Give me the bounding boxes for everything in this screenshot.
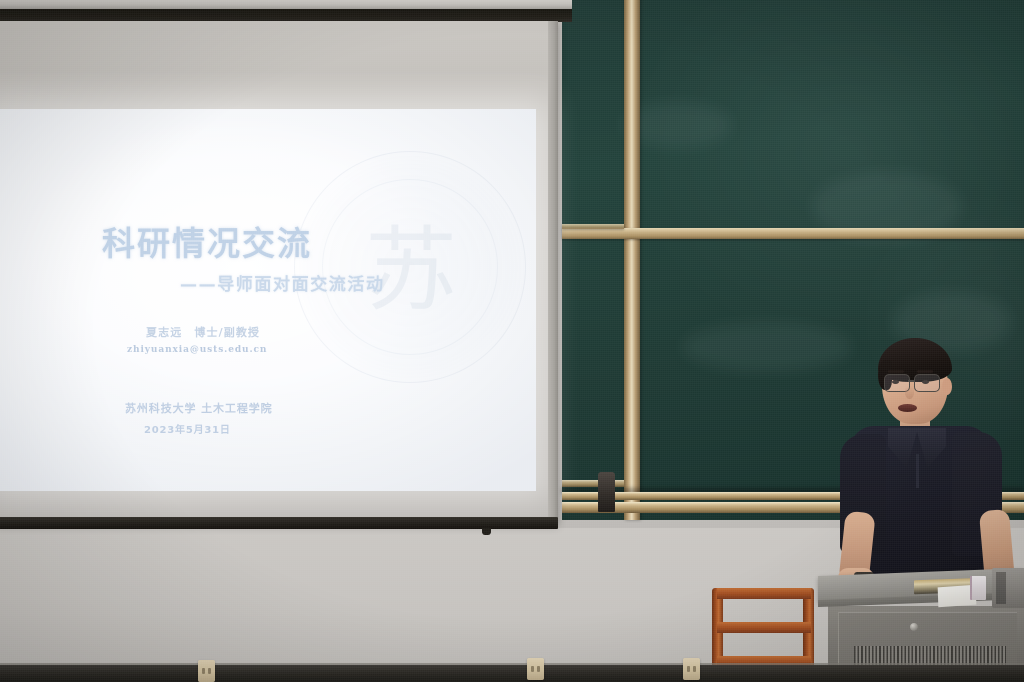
glasses-bridge [908,380,915,382]
screen-right-edge [548,21,558,524]
presenter-mouth [898,404,917,412]
pull-down-projection-screen[interactable]: 苏 科研情况交流 ——导师面对面交流活动 夏志远 博士/副教授 zhiyuanx… [0,0,572,546]
wall-outlet-center[interactable] [527,658,544,680]
glasses-lens-right [914,374,940,392]
lectern-lock[interactable] [910,623,918,631]
chalkboard-vertical-frame [624,0,640,520]
screen-fabric: 苏 科研情况交流 ——导师面对面交流活动 夏志远 博士/副教授 zhiyuanx… [0,21,556,524]
presenter [832,330,1024,590]
slide-date: 2023年5月31日 [144,421,231,436]
chair-top-slat [717,588,811,599]
chair-middle-slat [717,622,811,633]
presenter-eyebrow-left [888,370,904,373]
chalk-eraser[interactable] [598,472,615,512]
slide-email: zhiyuanxia@usts.edu.cn [127,345,267,355]
presenter-eyebrow-right [917,370,933,373]
chalkboard-mid-rail [562,228,1024,239]
slide-title: 科研情况交流 [102,217,312,265]
wall-baseboard [0,665,1024,682]
presenter-nose [905,386,914,399]
wall-outlet-right[interactable] [683,658,700,680]
slide-organization: 苏州科技大学 土木工程学院 [125,400,273,416]
presenter-ear [942,378,952,395]
screen-weight-bar[interactable] [0,517,558,529]
slide-subtitle: ——导师面对面交流活动 [180,270,385,295]
lecture-hall-scene: 苏 科研情况交流 ——导师面对面交流活动 夏志远 博士/副教授 zhiyuanx… [0,0,1024,682]
chalk-smudge [682,322,852,372]
desk-marker-box[interactable] [970,576,986,600]
wall-outlet-left[interactable] [198,660,215,682]
slide-author: 夏志远 博士/副教授 [146,324,260,340]
lectern-monitor-screen [996,572,1006,604]
screen-pull-handle[interactable] [482,528,491,535]
polo-placket [916,454,919,488]
